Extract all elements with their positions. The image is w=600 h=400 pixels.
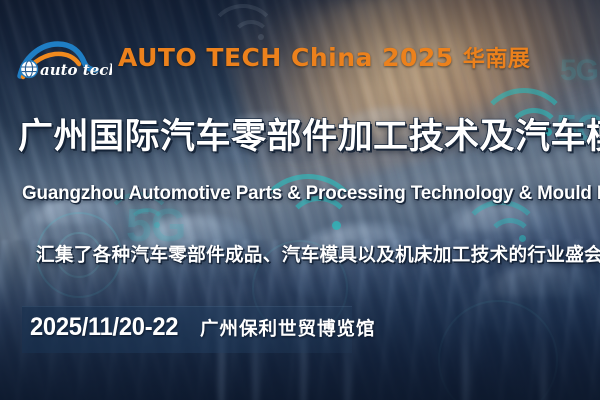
header-event-title: AUTO TECH China 2025 华南展	[118, 45, 530, 73]
event-poster: 5G 5G 5G auto tech	[0, 0, 600, 400]
header-row: auto tech AUTO TECH China 2025 华南展	[14, 36, 530, 82]
poster-content: auto tech AUTO TECH China 2025 华南展 广州国际汽…	[0, 0, 600, 400]
poster-title-english: Guangzhou Automotive Parts & Processing …	[22, 182, 600, 205]
svg-text:auto tech: auto tech	[40, 61, 112, 79]
poster-title-chinese: 广州国际汽车零部件加工技术及汽车模具展览会	[18, 118, 600, 157]
event-venue: 广州保利世贸博览馆	[200, 315, 376, 341]
header-event-name: AUTO TECH China 2025	[118, 43, 454, 72]
header-edition-label: 华南展	[463, 47, 531, 72]
event-dates: 2025/11/20-22	[30, 313, 178, 342]
date-venue-line: 2025/11/20-22 广州保利世贸博览馆	[30, 313, 376, 342]
poster-tagline: 汇集了各种汽车零部件成品、汽车模具以及机床加工技术的行业盛会！	[36, 241, 600, 267]
auto-tech-logo: auto tech	[14, 36, 112, 82]
